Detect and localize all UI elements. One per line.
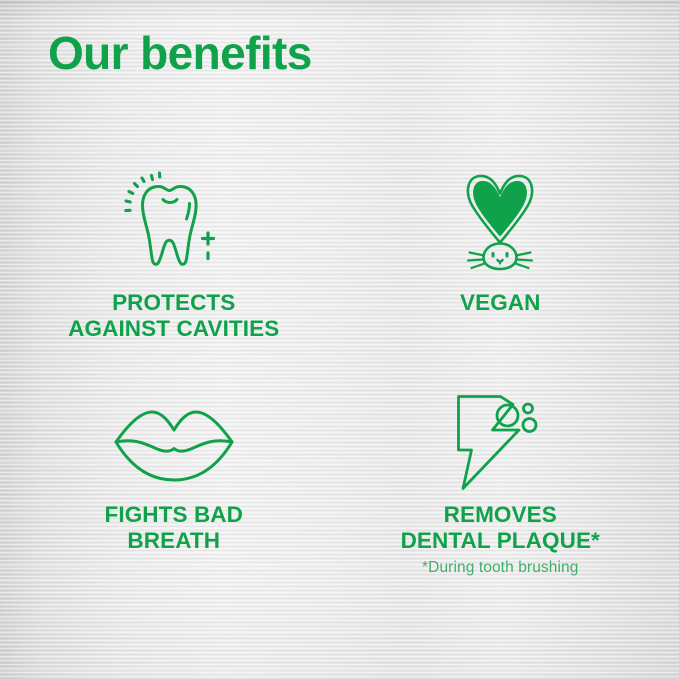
benefit-footnote: *During tooth brushing	[422, 559, 578, 578]
lightning-bolt-bubbles-icon	[447, 390, 553, 494]
benefit-caption: PROTECTS AGAINST CAVITIES	[68, 290, 279, 342]
benefit-caption: FIGHTS BAD BREATH	[105, 502, 244, 554]
tooth-sparkle-icon	[118, 160, 230, 282]
benefit-item-protects-against-cavities: PROTECTS AGAINST CAVITIES	[0, 160, 340, 390]
benefit-item-vegan: VEGAN	[340, 160, 679, 390]
page-title: Our benefits	[48, 30, 312, 76]
vegan-rabbit-heart-icon	[448, 160, 552, 282]
benefit-item-removes-dental-plaque: REMOVES DENTAL PLAQUE* *During tooth bru…	[340, 390, 679, 620]
benefits-panel: Our benefits	[0, 0, 679, 679]
benefits-grid: PROTECTS AGAINST CAVITIES	[0, 160, 679, 620]
benefit-caption: VEGAN	[460, 290, 541, 316]
benefit-item-fights-bad-breath: FIGHTS BAD BREATH	[0, 390, 340, 620]
benefit-caption: REMOVES DENTAL PLAQUE*	[401, 502, 600, 554]
lips-icon	[112, 390, 236, 494]
